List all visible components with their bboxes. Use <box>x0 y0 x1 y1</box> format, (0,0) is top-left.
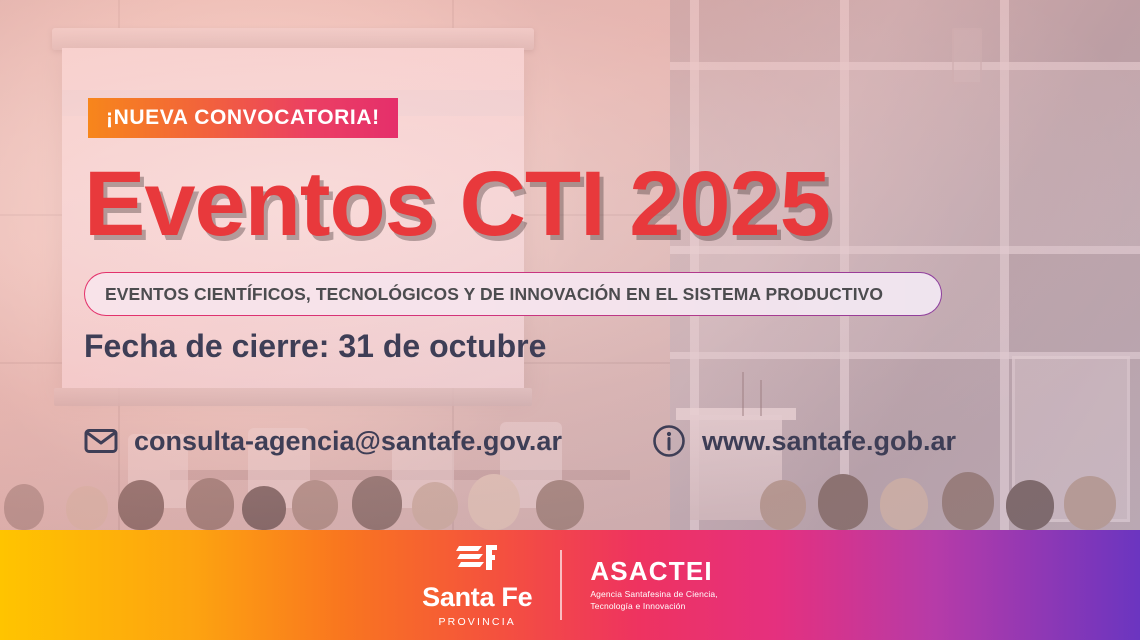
footer-divider <box>560 550 562 620</box>
deadline-label: Fecha de cierre: <box>84 328 338 364</box>
santa-fe-logo: Santa Fe PROVINCIA <box>422 543 532 628</box>
new-call-badge: ¡NUEVA CONVOCATORIA! <box>88 98 398 138</box>
deadline-line: Fecha de cierre: 31 de octubre <box>84 328 546 365</box>
banner-content: ¡NUEVA CONVOCATORIA! Eventos CTI 2025 EV… <box>0 0 1140 530</box>
asactei-subtitle-line2: Tecnología e Innovación <box>590 601 718 612</box>
page-title: Eventos CTI 2025 <box>84 158 830 250</box>
subtitle-box: EVENTOS CIENTÍFICOS, TECNOLÓGICOS Y DE I… <box>84 272 942 316</box>
footer-gradient-bar: Santa Fe PROVINCIA ASACTEI Agencia Santa… <box>0 530 1140 640</box>
envelope-icon <box>84 428 118 454</box>
subtitle-text: EVENTOS CIENTÍFICOS, TECNOLÓGICOS Y DE I… <box>85 284 883 305</box>
santa-fe-name: Santa Fe <box>422 584 532 611</box>
santa-fe-mark-icon <box>456 543 498 578</box>
asactei-name: ASACTEI <box>590 558 718 584</box>
website-text: www.santafe.gob.ar <box>702 426 956 457</box>
contact-row: consulta-agencia@santafe.gov.ar www.sant… <box>84 424 956 458</box>
info-circle-icon <box>652 424 686 458</box>
contact-website[interactable]: www.santafe.gob.ar <box>652 424 956 458</box>
asactei-logo: ASACTEI Agencia Santafesina de Ciencia, … <box>590 558 718 612</box>
santa-fe-subtitle: PROVINCIA <box>438 616 516 628</box>
deadline-value: 31 de octubre <box>338 328 546 364</box>
contact-email[interactable]: consulta-agencia@santafe.gov.ar <box>84 426 562 457</box>
promotional-banner: ¡NUEVA CONVOCATORIA! Eventos CTI 2025 EV… <box>0 0 1140 640</box>
asactei-subtitle-line1: Agencia Santafesina de Ciencia, <box>590 589 718 600</box>
email-text: consulta-agencia@santafe.gov.ar <box>134 426 562 457</box>
